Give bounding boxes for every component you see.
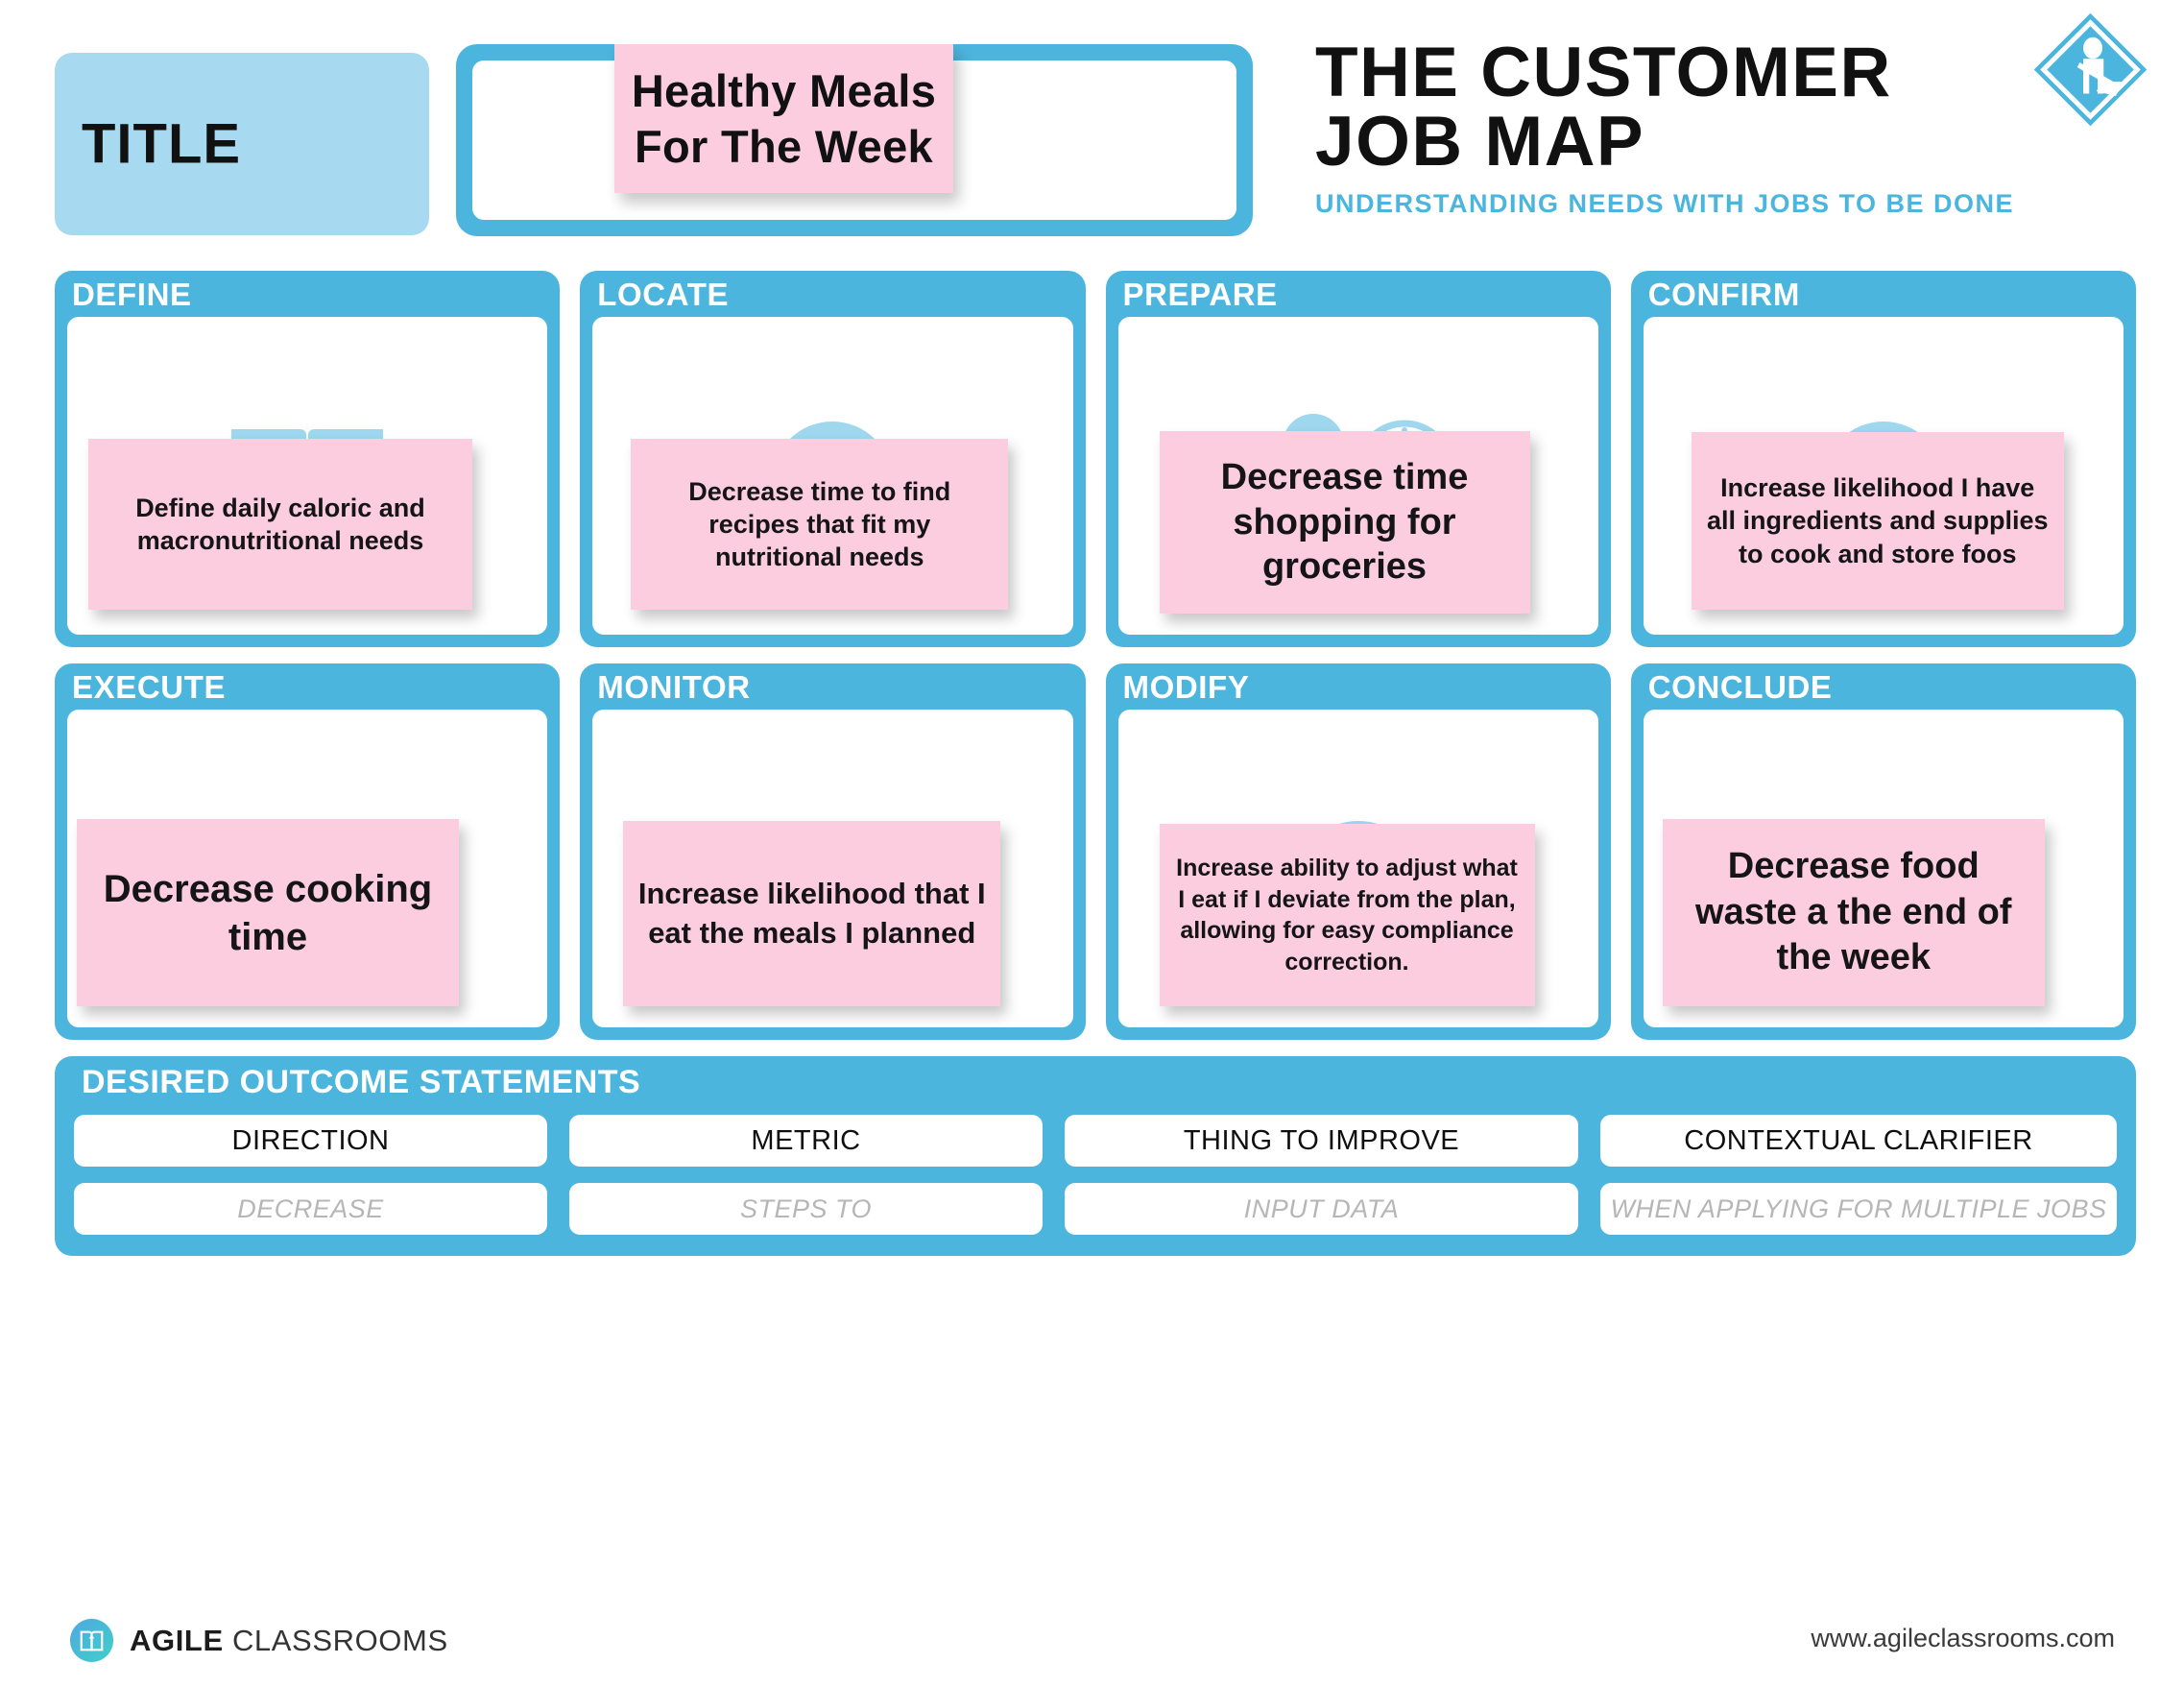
- job-stage-grid: DEFINE: [55, 271, 2136, 1256]
- stage-row-2: EXECUTE Decrease cooking time MONITOR: [55, 663, 2136, 1040]
- stage-label-locate: LOCATE: [597, 277, 729, 313]
- footer-brand-light: CLASSROOMS: [224, 1624, 448, 1657]
- desired-outcome-statements-title: DESIRED OUTCOME STATEMENTS: [82, 1064, 2117, 1101]
- sticky-note-execute[interactable]: Decrease cooking time: [77, 819, 459, 1006]
- footer-url[interactable]: www.agileclassrooms.com: [1811, 1624, 2115, 1653]
- sticky-note-modify-text: Increase ability to adjust what I eat if…: [1173, 853, 1522, 977]
- sticky-note-locate-text: Decrease time to find recipes that fit m…: [644, 475, 995, 574]
- stage-panel-confirm: Increase likelihood I have all ingredien…: [1644, 317, 2124, 635]
- stage-card-locate[interactable]: LOCATE Decrease time to find recipes tha…: [580, 271, 1085, 647]
- footer-brand-bold: AGILE: [130, 1624, 224, 1657]
- stage-panel-modify: Increase ability to adjust what I eat if…: [1118, 710, 1598, 1027]
- stage-label-conclude: CONCLUDE: [1648, 669, 1833, 706]
- footer-brand[interactable]: AGILE CLASSROOMS: [69, 1618, 448, 1663]
- stage-card-execute[interactable]: EXECUTE Decrease cooking time: [55, 663, 560, 1040]
- sticky-note-conclude[interactable]: Decrease food waste a the end of the wee…: [1663, 819, 2045, 1006]
- stage-label-prepare: PREPARE: [1123, 277, 1278, 313]
- outcome-header-contextual-clarifier: CONTEXTUAL CLARIFIER: [1600, 1115, 2117, 1167]
- stage-card-conclude[interactable]: CONCLUDE Decrease food waste a the end o…: [1631, 663, 2136, 1040]
- outcome-input-direction[interactable]: DECREASE: [74, 1183, 547, 1235]
- stage-panel-locate: Decrease time to find recipes that fit m…: [592, 317, 1072, 635]
- stage-row-1: DEFINE: [55, 271, 2136, 647]
- brand-block: THE CUSTOMER JOB MAP UNDERSTANDING NEEDS…: [1272, 38, 2155, 219]
- sticky-note-locate[interactable]: Decrease time to find recipes that fit m…: [631, 439, 1008, 610]
- sticky-note-confirm-text: Increase likelihood I have all ingredien…: [1705, 471, 2051, 570]
- stage-card-prepare[interactable]: PREPARE: [1106, 271, 1611, 647]
- stage-label-monitor: MONITOR: [597, 669, 750, 706]
- sticky-note-prepare[interactable]: Decrease time shopping for groceries: [1160, 431, 1530, 614]
- stage-card-define[interactable]: DEFINE: [55, 271, 560, 647]
- outcome-input-row: DECREASE STEPS TO INPUT DATA WHEN APPLYI…: [74, 1183, 2117, 1235]
- stage-panel-conclude: Decrease food waste a the end of the wee…: [1644, 710, 2124, 1027]
- job-title-line-1: Healthy Meals: [632, 63, 936, 118]
- header: TITLE Healthy Meals For The Week THE CUS…: [0, 0, 2184, 259]
- stage-panel-define: Define daily caloric and macronutritiona…: [67, 317, 547, 635]
- stage-card-monitor[interactable]: MONITOR Increase likelihood that I eat t…: [580, 663, 1085, 1040]
- sticky-note-execute-text: Decrease cooking time: [90, 865, 445, 961]
- book-circle-logo-icon: [69, 1618, 114, 1663]
- sticky-note-prepare-text: Decrease time shopping for groceries: [1173, 455, 1517, 589]
- outcome-header-direction: DIRECTION: [74, 1115, 547, 1167]
- sticky-note-conclude-text: Decrease food waste a the end of the wee…: [1676, 844, 2031, 982]
- brand-subtitle: UNDERSTANDING NEEDS WITH JOBS TO BE DONE: [1272, 189, 2155, 219]
- stage-panel-execute: Decrease cooking time: [67, 710, 547, 1027]
- roadwork-sign-icon: [2030, 10, 2150, 130]
- title-chip-label: TITLE: [82, 112, 241, 177]
- outcome-input-contextual-clarifier[interactable]: WHEN APPLYING FOR MULTIPLE JOBS: [1600, 1183, 2117, 1235]
- brand-title-line-2: JOB MAP: [1315, 108, 2155, 177]
- stage-label-define: DEFINE: [72, 277, 192, 313]
- sticky-note-confirm[interactable]: Increase likelihood I have all ingredien…: [1692, 432, 2064, 610]
- brand-title: THE CUSTOMER JOB MAP: [1272, 38, 2155, 176]
- sticky-note-monitor-text: Increase likelihood that I eat the meals…: [636, 875, 987, 952]
- stage-panel-monitor: Increase likelihood that I eat the meals…: [592, 710, 1072, 1027]
- stage-label-execute: EXECUTE: [72, 669, 226, 706]
- stage-panel-prepare: Decrease time shopping for groceries: [1118, 317, 1598, 635]
- sticky-note-modify[interactable]: Increase ability to adjust what I eat if…: [1160, 824, 1535, 1006]
- job-title-sticky-note[interactable]: Healthy Meals For The Week: [614, 44, 953, 193]
- job-title-line-2: For The Week: [632, 119, 936, 174]
- job-title-text: Healthy Meals For The Week: [632, 63, 936, 174]
- footer-brand-text: AGILE CLASSROOMS: [130, 1624, 448, 1658]
- outcome-input-thing-to-improve[interactable]: INPUT DATA: [1065, 1183, 1578, 1235]
- footer: AGILE CLASSROOMS www.agileclassrooms.com: [0, 1612, 2184, 1687]
- outcome-input-metric[interactable]: STEPS TO: [569, 1183, 1043, 1235]
- stage-card-confirm[interactable]: CONFIRM Increase likelihood I have all i…: [1631, 271, 2136, 647]
- desired-outcome-statements-section: DESIRED OUTCOME STATEMENTS DIRECTION MET…: [55, 1056, 2136, 1256]
- sticky-note-define[interactable]: Define daily caloric and macronutritiona…: [88, 439, 472, 610]
- stage-label-confirm: CONFIRM: [1648, 277, 1800, 313]
- outcome-header-row: DIRECTION METRIC THING TO IMPROVE CONTEX…: [74, 1115, 2117, 1167]
- stage-label-modify: MODIFY: [1123, 669, 1250, 706]
- outcome-header-thing-to-improve: THING TO IMPROVE: [1065, 1115, 1578, 1167]
- customer-job-map-poster: TITLE Healthy Meals For The Week THE CUS…: [0, 0, 2184, 1687]
- brand-title-line-1: THE CUSTOMER: [1315, 38, 2155, 108]
- sticky-note-monitor[interactable]: Increase likelihood that I eat the meals…: [623, 821, 1000, 1006]
- stage-card-modify[interactable]: MODIFY Increase ability to adjust what I…: [1106, 663, 1611, 1040]
- title-chip: TITLE: [55, 53, 429, 235]
- sticky-note-define-text: Define daily caloric and macronutritiona…: [102, 492, 459, 558]
- outcome-header-metric: METRIC: [569, 1115, 1043, 1167]
